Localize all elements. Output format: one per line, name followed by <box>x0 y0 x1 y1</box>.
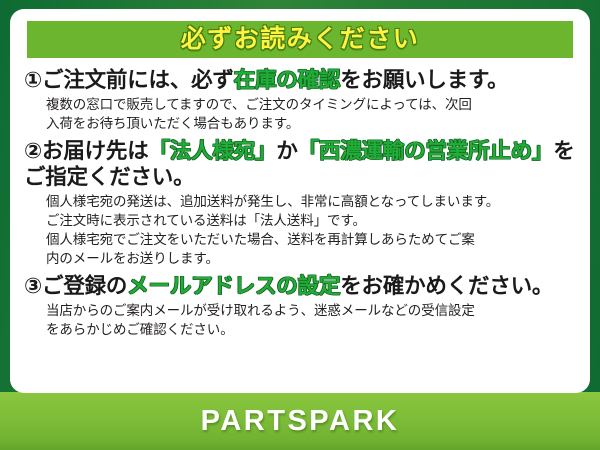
notice-item-1-number: ① <box>24 68 42 92</box>
notice-item-1: ①ご注文前には、必ず在庫の確認をお願いします。 複数の窓口で販売してますので、ご… <box>24 67 578 134</box>
notice-item-3-heading: ③ご登録のメールアドレスの設定をお確かめください。 <box>24 273 578 299</box>
notice-item-2-heading-highlight-2: 「西濃運輸の営業所止め」 <box>298 139 554 163</box>
page-title: 必ずお読みください <box>181 27 420 52</box>
notice-item-3-heading-highlight: メールアドレスの設定 <box>127 274 340 298</box>
notice-item-1-body-line-1: 複数の窓口で販売してますので、ご注文のタイミングによっては、次回 <box>46 95 578 114</box>
notice-item-1-heading: ①ご注文前には、必ず在庫の確認をお願いします。 <box>24 67 578 93</box>
notice-item-2-body-line-3: 個人様宅宛でご注文をいただいた場合、送料を再計算しあらためてご案 <box>46 230 578 249</box>
notice-item-2-heading-mid: か <box>276 139 297 163</box>
white-panel: 必ずお読みください ①ご注文前には、必ず在庫の確認をお願いします。 複数の窓口で… <box>10 9 590 393</box>
notice-item-2-body-line-1: 個人様宅宛の発送は、追加送料が発生し、非常に高額となってしまいます。 <box>46 192 578 211</box>
notice-item-3-heading-pre: ご登録の <box>42 274 127 298</box>
notice-item-2-heading-highlight: 「法人様宛」 <box>149 139 277 163</box>
brand-logo-text: PARTSPARK <box>201 405 400 438</box>
notice-item-3-body-line-1: 当店からのご案内メールが受け取れるよう、迷惑メールなどの受信設定 <box>46 301 578 320</box>
notice-item-3-body: 当店からのご案内メールが受け取れるよう、迷惑メールなどの受信設定 をあらかじめご… <box>46 301 578 339</box>
notice-item-3-heading-post: をお確かめください。 <box>340 274 553 298</box>
notice-item-2-body-line-2: ご注文時に表示されている送料は「法人送料」です。 <box>46 211 578 230</box>
notice-item-1-heading-highlight: 在庫の確認 <box>234 68 341 92</box>
notice-item-1-heading-pre: ご注文前には、必ず <box>42 68 234 92</box>
notice-item-3: ③ご登録のメールアドレスの設定をお確かめください。 当店からのご案内メールが受け… <box>24 273 578 340</box>
notice-item-2-heading: ②お届け先は「法人様宛」か「西濃運輸の営業所止め」をご指定ください。 <box>24 138 578 190</box>
notice-item-2: ②お届け先は「法人様宛」か「西濃運輸の営業所止め」をご指定ください。 個人様宅宛… <box>24 138 578 269</box>
notice-item-2-body-line-4: 内のメールをお送りします。 <box>46 249 578 268</box>
notice-item-3-body-line-2: をあらかじめご確認ください。 <box>46 320 578 339</box>
notice-item-2-body: 個人様宅宛の発送は、追加送料が発生し、非常に高額となってしまいます。 ご注文時に… <box>46 192 578 269</box>
notice-item-1-body-line-2: 入荷をお待ち頂いただく場合もあります。 <box>46 114 578 133</box>
notice-item-1-body: 複数の窓口で販売してますので、ご注文のタイミングによっては、次回 入荷をお待ち頂… <box>46 95 578 133</box>
notice-item-2-number: ② <box>24 139 42 163</box>
notice-item-1-heading-post: をお願いします。 <box>340 68 508 92</box>
notice-banner: 必ずお読みください ①ご注文前には、必ず在庫の確認をお願いします。 複数の窓口で… <box>0 0 600 450</box>
header-bar: 必ずお読みください <box>27 21 573 58</box>
footer-brand-area: PARTSPARK <box>0 392 600 450</box>
notice-item-3-number: ③ <box>24 274 42 298</box>
notice-item-2-heading-pre: お届け先は <box>42 139 149 163</box>
notice-list: ①ご注文前には、必ず在庫の確認をお願いします。 複数の窓口で販売してますので、ご… <box>10 63 590 393</box>
